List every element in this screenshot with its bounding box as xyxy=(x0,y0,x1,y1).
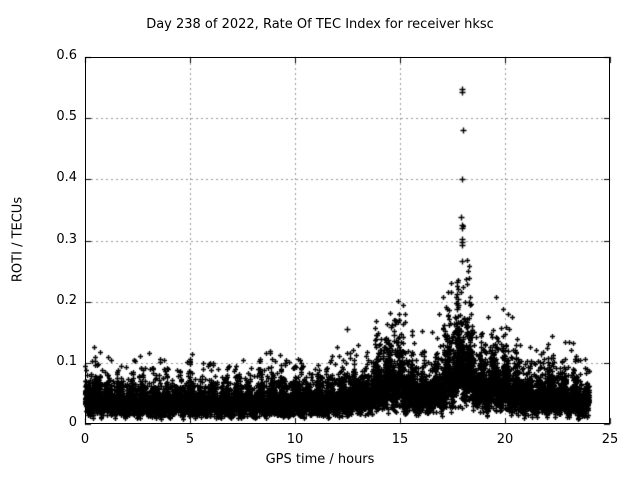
x-tick-label: 20 xyxy=(485,432,525,447)
x-axis-label: GPS time / hours xyxy=(0,452,640,467)
x-tick-label: 10 xyxy=(275,432,315,447)
y-axis-label: ROTI / TECUs xyxy=(11,160,26,320)
y-tick-label: 0.1 xyxy=(33,354,77,369)
plot-frame xyxy=(85,57,610,424)
y-tick-label: 0.4 xyxy=(33,170,77,185)
y-tick-label: 0.5 xyxy=(33,109,77,124)
roti-scatter-chart: Day 238 of 2022, Rate Of TEC Index for r… xyxy=(0,0,640,480)
x-tick-label: 25 xyxy=(590,432,630,447)
x-tick-label: 5 xyxy=(170,432,210,447)
y-tick-label: 0.3 xyxy=(33,232,77,247)
y-tick-label: 0.2 xyxy=(33,293,77,308)
x-tick-label: 0 xyxy=(65,432,105,447)
x-tick-label: 15 xyxy=(380,432,420,447)
y-tick-label: 0 xyxy=(33,415,77,430)
y-tick-label: 0.6 xyxy=(33,48,77,63)
